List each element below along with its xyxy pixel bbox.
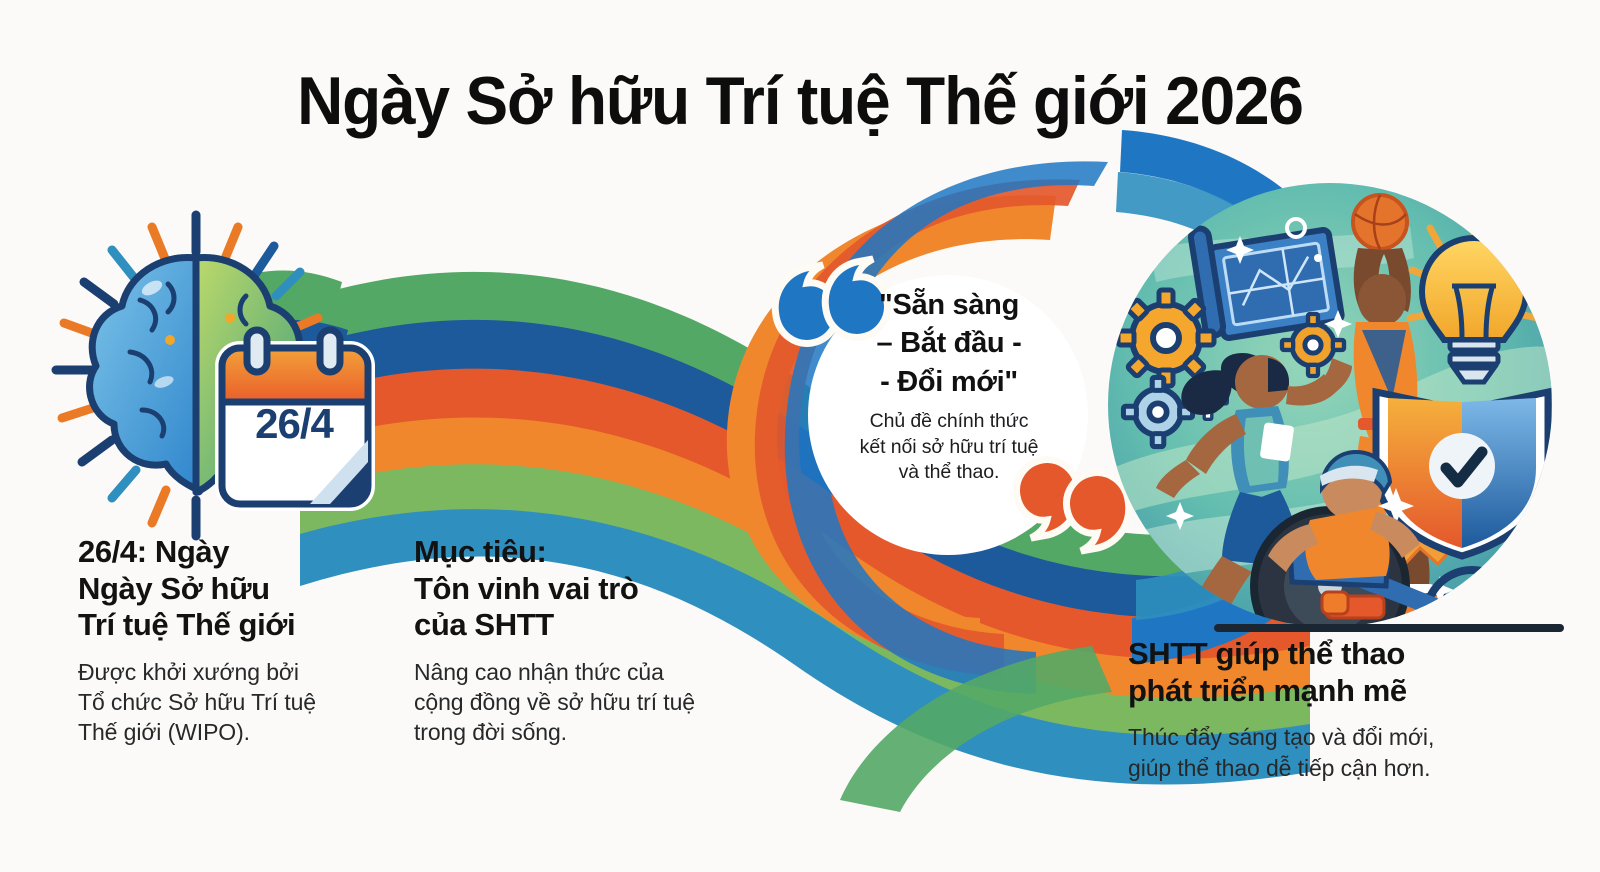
spark-rays: [56, 215, 318, 536]
growth-arrow-icon: [1378, 430, 1548, 578]
calendar-date-label: 26/4: [232, 400, 356, 448]
info-column-middle: Mục tiêu: Tôn vinh vai trò của SHTT Nâng…: [414, 534, 734, 748]
quote-headline: "Sẵn sàng – Bắt đầu - - Đổi mới": [877, 286, 1022, 401]
info-column-left: 26/4: Ngày Ngày Sở hữu Trí tuệ Thế giới …: [78, 534, 398, 748]
quote-subtitle: Chủ đề chính thức kết nối sở hữu trí tuệ…: [860, 409, 1039, 486]
sparkle-icon: [1166, 219, 1454, 604]
info-column-right-body: Thúc đẩy sáng tạo và đổi mới, giúp thể t…: [1128, 722, 1528, 784]
info-column-middle-body: Nâng cao nhận thức của cộng đồng về sở h…: [414, 657, 734, 748]
lightbulb-icon: [1410, 212, 1538, 382]
sports-innovation-illustration: [1108, 183, 1560, 662]
runner-icon: [1156, 353, 1352, 656]
wheelchair-racer-icon: [1254, 452, 1518, 662]
info-column-right-heading: SHTT giúp thể thao phát triển mạnh mẽ: [1128, 636, 1528, 709]
quote-bubble: "Sẵn sàng – Bắt đầu - - Đổi mới" Chủ đề …: [826, 286, 1072, 548]
gear-icon: [1118, 290, 1344, 447]
blueprint-icon: [1190, 227, 1343, 339]
brain-icon: [90, 258, 303, 492]
shield-check-icon: [1376, 392, 1548, 556]
info-column-right: SHTT giúp thể thao phát triển mạnh mẽ Th…: [1128, 636, 1528, 784]
basketball-player-icon: [1329, 195, 1448, 620]
page-title: Ngày Sở hữu Trí tuệ Thế giới 2026: [48, 62, 1552, 140]
info-column-left-heading: 26/4: Ngày Ngày Sở hữu Trí tuệ Thế giới: [78, 534, 398, 644]
infographic-canvas: Ngày Sở hữu Trí tuệ Thế giới 2026: [0, 0, 1600, 872]
info-column-middle-heading: Mục tiêu: Tôn vinh vai trò của SHTT: [414, 534, 734, 644]
info-column-left-body: Được khởi xướng bởi Tổ chức Sở hữu Trí t…: [78, 657, 398, 748]
